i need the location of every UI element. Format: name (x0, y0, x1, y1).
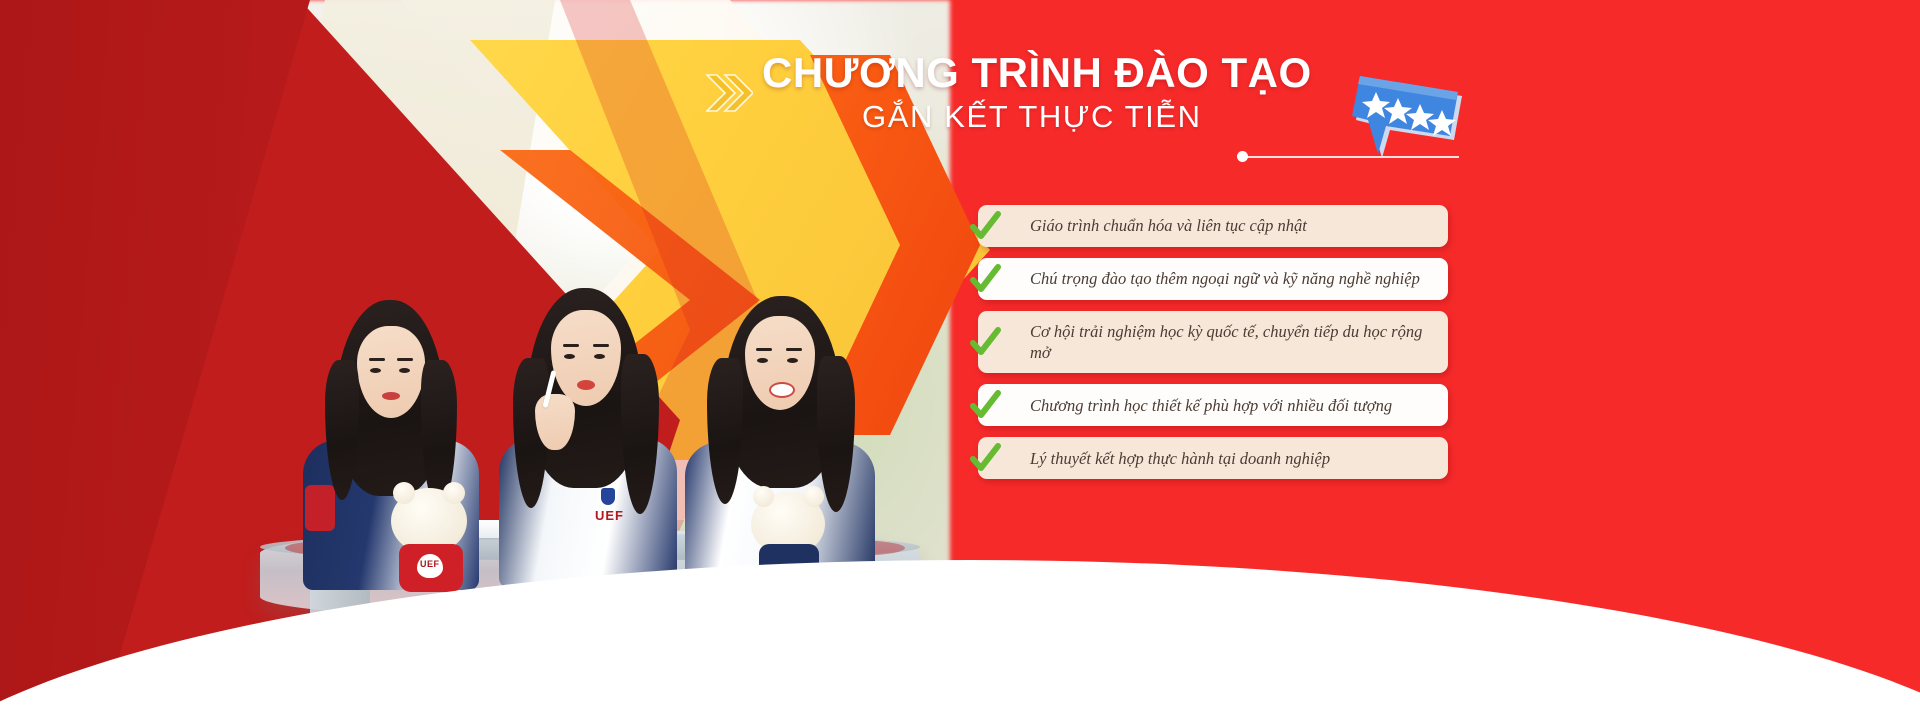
student-left-eye-l (370, 368, 381, 373)
list-item-label: Lý thuyết kết hợp thực hành tại doanh ng… (978, 438, 1346, 479)
student-right-smile (769, 382, 795, 398)
student-right-eye-l (757, 358, 768, 363)
student-center-lips (577, 380, 595, 390)
student-center-eye-r (594, 354, 605, 359)
student-center-eye-l (564, 354, 575, 359)
student-left-lips (382, 392, 400, 400)
teddy-bear-left-ear-r (443, 482, 465, 504)
title-underline-dot (1237, 151, 1248, 162)
green-check-icon (968, 441, 1002, 475)
green-check-icon (968, 262, 1002, 296)
green-check-icon (968, 325, 1002, 359)
green-check-icon (968, 209, 1002, 243)
green-check-icon (968, 388, 1002, 422)
teddy-bear-left-ear-l (393, 482, 415, 504)
teddy-badge-text: UEF (420, 559, 440, 569)
list-item-label: Cơ hội trải nghiệm học kỳ quốc tế, chuyể… (978, 311, 1448, 373)
list-item-label: Giáo trình chuẩn hóa và liên tục cập nhậ… (978, 205, 1323, 246)
student-left-brow-l (369, 358, 385, 361)
student-left-eye-r (399, 368, 410, 373)
list-item[interactable]: Cơ hội trải nghiệm học kỳ quốc tế, chuyể… (978, 311, 1448, 373)
list-item-label: Chương trình học thiết kế phù hợp với nh… (978, 385, 1408, 426)
double-chevron-right-icon (705, 72, 753, 114)
student-left-brow-r (397, 358, 413, 361)
student-center-brow-r (593, 344, 609, 347)
list-item-label: Chú trọng đào tạo thêm ngoại ngữ và kỹ n… (978, 258, 1436, 299)
uef-logo-center: UEF (595, 508, 624, 523)
student-right-eye-r (787, 358, 798, 363)
feature-list: Giáo trình chuẩn hóa và liên tục cập nhậ… (978, 205, 1448, 490)
student-left: UEF (295, 300, 485, 580)
five-star-speech-bubble-icon (1342, 62, 1470, 162)
student-right-brow-r (786, 348, 802, 351)
program-banner: UEF UEF (0, 0, 1920, 723)
list-item[interactable]: Giáo trình chuẩn hóa và liên tục cập nhậ… (978, 205, 1448, 247)
list-item[interactable]: Lý thuyết kết hợp thực hành tại doanh ng… (978, 437, 1448, 479)
teddy-bear-left-heart: UEF (417, 554, 443, 578)
student-center-brow-l (563, 344, 579, 347)
teddy-bear-right-ear-l (753, 486, 774, 507)
list-item[interactable]: Chương trình học thiết kế phù hợp với nh… (978, 384, 1448, 426)
student-left-sleeve-trim (305, 485, 335, 531)
teddy-bear-left-vest: UEF (399, 544, 463, 592)
list-item[interactable]: Chú trọng đào tạo thêm ngoại ngữ và kỹ n… (978, 258, 1448, 300)
student-right (675, 296, 885, 576)
student-right-brow-l (756, 348, 772, 351)
uef-crest-center (601, 488, 615, 505)
teddy-bear-right-ear-r (803, 486, 824, 507)
student-center: UEF (485, 288, 685, 578)
